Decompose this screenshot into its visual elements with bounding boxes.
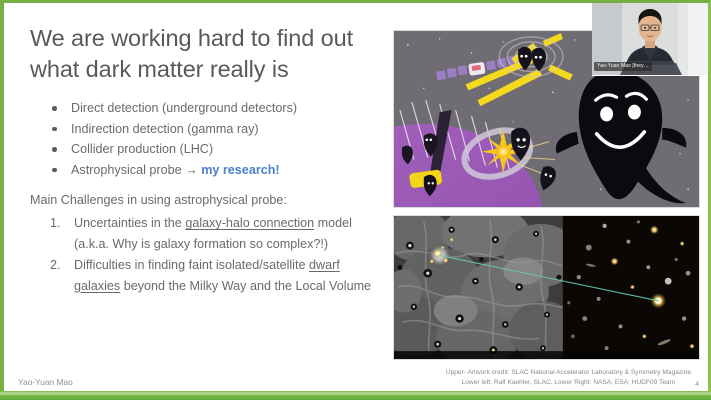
slide-text-column: We are working hard to find out what dar…: [30, 23, 382, 297]
presentation-slide: We are working hard to find out what dar…: [0, 0, 711, 400]
bullet-tail-text: !: [275, 163, 279, 177]
simulation-and-deep-field-comparison: [394, 216, 699, 359]
challenges-heading: Main Challenges in using astrophysical p…: [30, 193, 382, 207]
my-research-emphasis: my research: [198, 163, 276, 177]
challenges-list: Uncertainties in the galaxy-halo connect…: [30, 213, 382, 296]
webcam-video-thumbnail[interactable]: Yao-Yuan Mao [they…: [592, 3, 708, 76]
list-item-astrophysical-probe: Astrophysical probe → my research!: [50, 160, 382, 181]
challenge-underlined-term: galaxy-halo connection: [185, 216, 314, 230]
detection-methods-list: Direct detection (underground detectors)…: [30, 98, 382, 180]
image-credits: Upper- Artwork credit: SLAC National Acc…: [446, 368, 691, 388]
challenge-text-part1: Uncertainties in the: [74, 216, 185, 230]
lower-figure-simulation-vs-deep-field: [393, 215, 700, 360]
webcam-participant-name-label: Yao-Yuan Mao [they…: [594, 62, 652, 71]
list-item: Uncertainties in the galaxy-halo connect…: [50, 213, 382, 254]
footer-author-name: Yao-Yuan Mao: [18, 377, 73, 387]
slide-number: 4: [695, 381, 699, 388]
bullet-lead-text: Astrophysical probe: [71, 163, 185, 177]
arrow-icon: →: [185, 163, 198, 177]
list-item: Difficulties in finding faint isolated/s…: [50, 255, 382, 296]
challenge-text-part1: Difficulties in finding faint isolated/s…: [74, 258, 309, 272]
list-item: Indirection detection (gamma ray): [50, 119, 382, 140]
bottom-green-bar: [0, 391, 711, 400]
slide-title: We are working hard to find out what dar…: [30, 23, 382, 84]
list-item: Collider production (LHC): [50, 139, 382, 160]
bottom-bar-highlight: [0, 392, 711, 395]
challenge-text-part2: beyond the Milky Way and the Local Volum…: [120, 279, 371, 293]
list-item: Direct detection (underground detectors): [50, 98, 382, 119]
